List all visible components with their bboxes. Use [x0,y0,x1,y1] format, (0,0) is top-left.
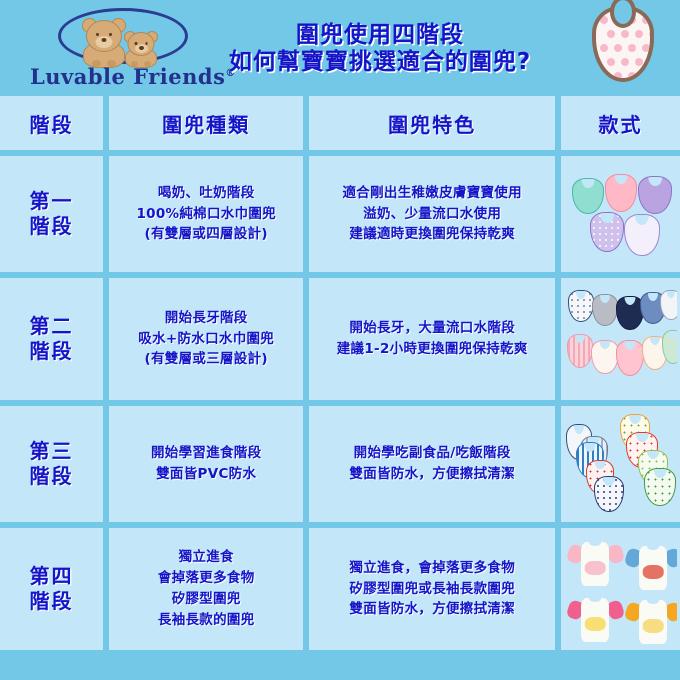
pastel-cotton-bibs-photo [564,160,677,268]
column-header-features: 圍兜特色 [309,96,555,150]
type-line: 長袖長款的圍兜 [158,610,255,631]
smock-bib-thumbnail [568,538,622,590]
bib-thumbnail [567,334,593,368]
feature-line: 雙面皆防水，方便擦拭清潔 [349,599,515,620]
bib-neck-opening [648,292,658,301]
bib-thumbnail [644,468,676,506]
type-cell: 喝奶、吐奶階段 100%純棉口水巾圍兜 (有雙層或四層設計) [109,156,303,272]
smock-bib-thumbnail [568,594,622,646]
page-header: Luvable Friends® 圍兜使用四階段 如何幫寶寶挑選適合的圍兜? [0,0,680,92]
smock-bib-thumbnail [626,542,677,594]
bib-neck-opening [648,176,661,186]
type-line: 喝奶、吐奶階段 [136,183,276,204]
bib-dot-icon [635,30,643,38]
smock-bib-thumbnail [626,596,677,646]
type-line: 開始學習進食階段 [151,443,261,464]
bib-dot-icon [600,44,608,52]
bib-neck-opening [600,294,610,303]
bib-dot-icon [621,30,629,38]
feature-line: 建議適時更換圍兜保持乾爽 [343,224,522,245]
page-title: 圍兜使用四階段 如何幫寶寶挑選適合的圍兜? [215,22,545,76]
bib-neck-opening [667,290,675,298]
feature-line: 獨立進食，會掉落更多食物 [349,558,515,579]
bib-neck-opening [615,174,628,184]
bib-thumbnail [590,212,624,252]
stage-cell: 第三 階段 [0,406,103,522]
bib-neck-opening [635,214,649,225]
bib-neck-opening [574,424,584,434]
style-photo-cell [561,278,680,400]
bib-dot-icon [642,72,650,80]
bib-neck-opening [625,340,636,350]
type-cell: 開始長牙階段 吸水+防水口水巾圍兜 (有雙層或三層設計) [109,278,303,400]
bib-dot-icon [635,58,643,66]
type-line: 矽膠型圍兜 [158,589,255,610]
bib-neck-opening [595,460,606,469]
stage-label-line1: 第四 [30,564,74,589]
bib-neck-opening [625,296,636,305]
table-row: 第四 階段 獨立進食 會掉落更多食物 矽膠型圍兜 長袖長款的圍兜 獨立進食，會掉… [0,528,680,650]
feature-line: 溢奶、少量流口水使用 [343,204,522,225]
bib-dot-icon [621,58,629,66]
column-header-stage: 階段 [0,96,103,150]
pvc-waterproof-bibs-photo [564,410,677,518]
feature-line: 適合剛出生稚嫩皮膚寶寶使用 [343,183,522,204]
page-title-line1: 圍兜使用四階段 [215,22,545,49]
type-line: 開始長牙階段 [138,308,274,329]
bib-dot-icon [607,58,615,66]
table-row: 第二 階段 開始長牙階段 吸水+防水口水巾圍兜 (有雙層或三層設計) 開始長牙，… [0,278,680,400]
feature-cell: 開始長牙，大量流口水階段 建議1-2小時更換圍兜保持乾爽 [309,278,555,400]
bib-thumbnail [660,290,677,320]
type-line: 會掉落更多食物 [158,568,255,589]
bib-neck-opening [629,414,641,424]
polka-dot-bib-icon [588,4,658,88]
stage-label-line1: 第一 [30,189,74,214]
absorbent-waterproof-bibs-photo [564,282,677,396]
bib-thumbnail [638,176,672,214]
type-line: (有雙層或四層設計) [136,224,276,245]
feature-line: 矽膠型圍兜或長袖長款圍兜 [349,579,515,600]
stage-label-line1: 第二 [30,314,74,339]
type-line: 獨立進食 [158,547,255,568]
bib-thumbnail [592,294,618,326]
bib-dot-icon [642,44,650,52]
style-photo-cell [561,156,680,272]
bib-dot-icon [628,44,636,52]
teddy-bear-small-icon [122,32,160,66]
bib-neck-opening [600,212,613,223]
table-header-row: 階段 圍兜種類 圍兜特色 款式 [0,96,680,150]
stage-label-line2: 階段 [30,339,74,364]
brand-name: Luvable Friends® [30,64,230,89]
column-header-styles: 款式 [561,96,680,150]
feature-cell: 獨立進食，會掉落更多食物 矽膠型圍兜或長袖長款圍兜 雙面皆防水，方便擦拭清潔 [309,528,555,650]
bib-neck-opening [585,442,596,452]
brand-logo: Luvable Friends® [30,4,230,90]
bib-thumbnail [594,476,624,512]
stage-cell: 第一 階段 [0,156,103,272]
type-cell: 獨立進食 會掉落更多食物 矽膠型圍兜 長袖長款的圍兜 [109,528,303,650]
bib-dot-icon [628,72,636,80]
bib-neck-opening [575,334,585,343]
bib-dot-icon [607,30,615,38]
stages-table: 階段 圍兜種類 圍兜特色 款式 第一 階段 喝奶、吐奶階段 100%純棉口水巾圍… [0,96,680,656]
bib-thumbnail [568,290,594,322]
bib-thumbnail [605,174,637,212]
feature-cell: 適合剛出生稚嫩皮膚寶寶使用 溢奶、少量流口水使用 建議適時更換圍兜保持乾爽 [309,156,555,272]
bib-neck-opening [576,290,586,299]
type-line: 100%純棉口水巾圍兜 [136,204,276,225]
type-line: (有雙層或三層設計) [138,349,274,370]
bib-dot-icon [600,72,608,80]
table-row: 第三 階段 開始學習進食階段 雙面皆PVC防水 開始學吃副食品/吃飯階段 雙面皆… [0,406,680,522]
style-photo-cell [561,528,680,650]
bib-neck-opening [636,432,649,442]
brand-name-text: Luvable Friends [30,64,225,89]
feature-line: 建議1-2小時更換圍兜保持乾爽 [337,339,528,360]
bib-thumbnail [616,340,644,376]
feature-line: 開始長牙，大量流口水階段 [337,318,528,339]
type-cell: 開始學習進食階段 雙面皆PVC防水 [109,406,303,522]
stage-label-line1: 第三 [30,439,74,464]
bib-neck-opening [647,450,659,459]
bib-thumbnail [624,214,660,256]
bib-thumbnail [591,340,619,374]
bib-neck-opening [600,340,611,349]
feature-line: 雙面皆防水，方便擦拭清潔 [349,464,515,485]
style-photo-cell [561,406,680,522]
bib-dot-icon [649,30,654,38]
stage-label-line2: 階段 [30,464,74,489]
stage-label-line2: 階段 [30,589,74,614]
table-row: 第一 階段 喝奶、吐奶階段 100%純棉口水巾圍兜 (有雙層或四層設計) 適合剛… [0,156,680,272]
bib-dot-icon [614,72,622,80]
infographic-page: Luvable Friends® 圍兜使用四階段 如何幫寶寶挑選適合的圍兜? 階… [0,0,680,680]
feature-cell: 開始學吃副食品/吃飯階段 雙面皆防水，方便擦拭清潔 [309,406,555,522]
bib-thumbnail [572,178,604,214]
stage-cell: 第二 階段 [0,278,103,400]
bib-neck-opening [582,178,595,188]
bib-neck-opening [669,330,677,339]
stage-label-line2: 階段 [30,214,74,239]
stage-cell: 第四 階段 [0,528,103,650]
page-title-line2: 如何幫寶寶挑選適合的圍兜? [215,49,545,76]
column-header-type: 圍兜種類 [109,96,303,150]
bib-dot-icon [600,16,608,24]
bib-dot-icon [614,44,622,52]
bib-dot-icon [649,58,654,66]
long-sleeve-smock-bibs-photo [564,532,677,646]
bib-dot-icon [642,16,650,24]
bib-neck-opening [603,476,615,486]
bib-neck-opening [650,336,660,345]
feature-line: 開始學吃副食品/吃飯階段 [349,443,515,464]
bib-neck-opening [654,468,667,478]
type-line: 吸水+防水口水巾圍兜 [138,329,274,350]
type-line: 雙面皆PVC防水 [151,464,261,485]
